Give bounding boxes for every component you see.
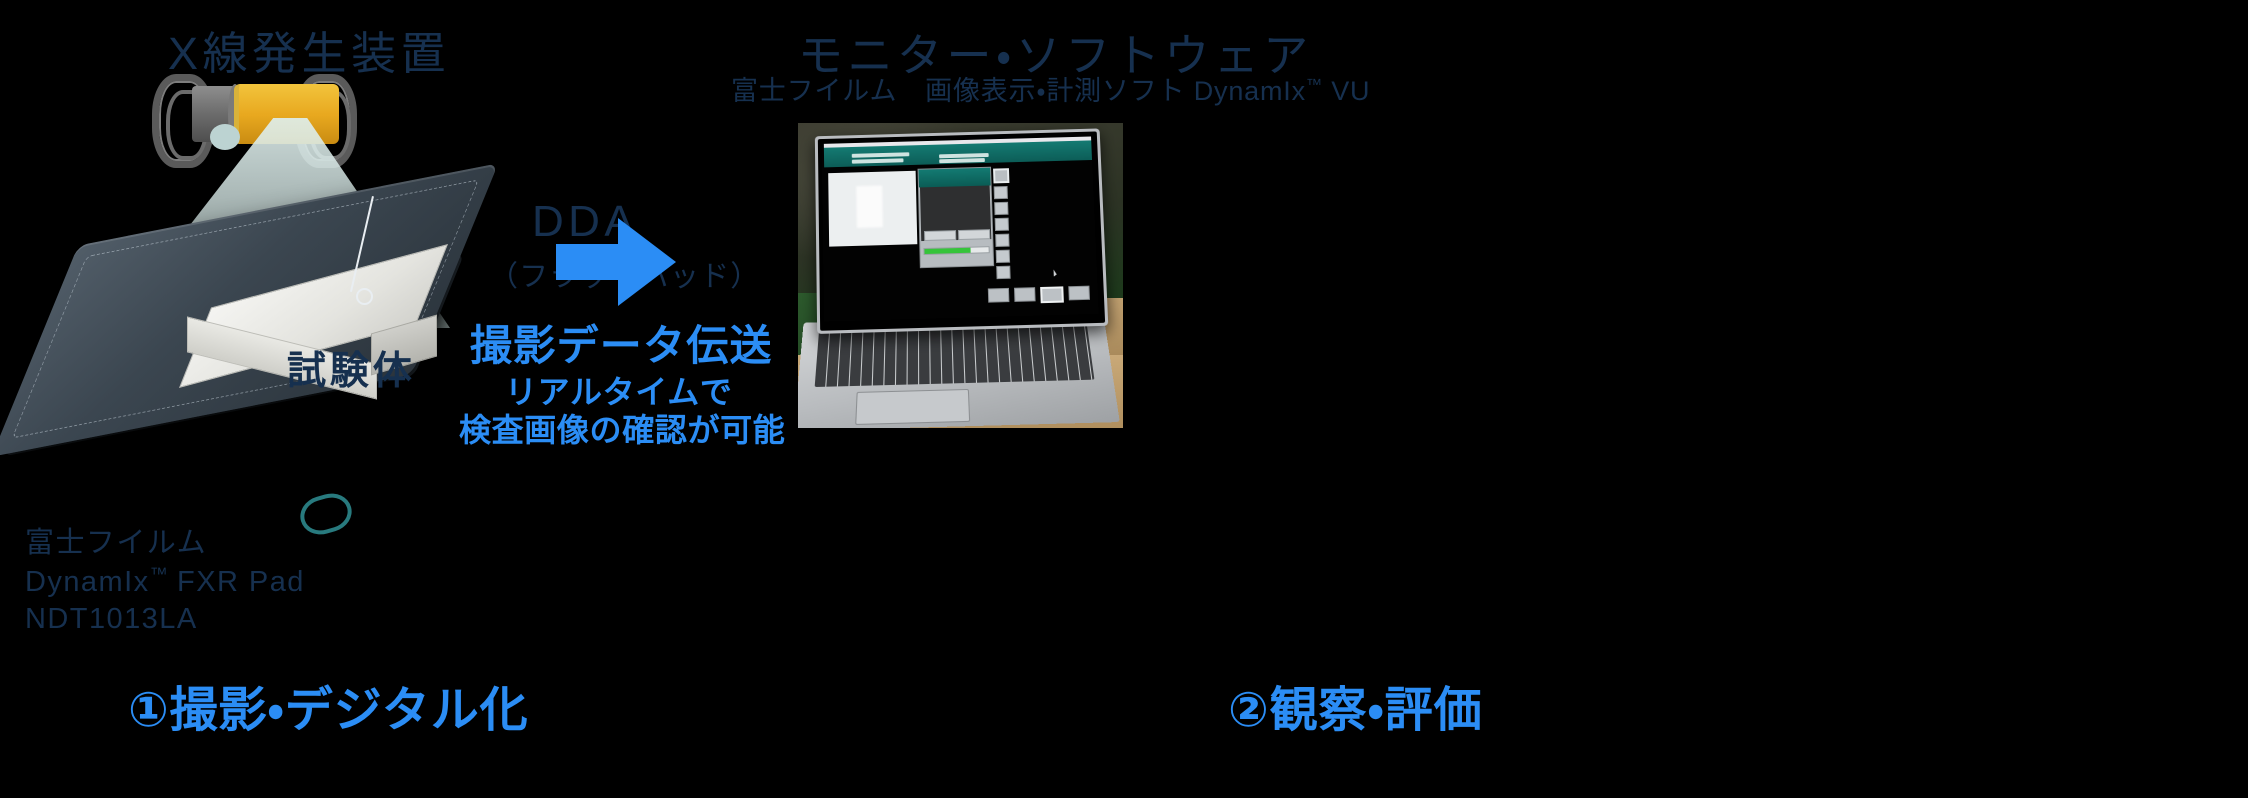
monitor-subtitle-prefix: 富士フイルム 画像表示・計測ソフト DynamIx — [731, 76, 1306, 106]
right-arrow-icon — [556, 218, 676, 306]
tool-button-4[interactable] — [995, 218, 1009, 231]
dialog-up-button[interactable] — [924, 230, 956, 241]
laptop-keyboard — [815, 325, 1095, 387]
tool-palette — [993, 168, 1009, 282]
screen-bottom-buttons — [988, 286, 1090, 305]
product-model-prefix: DynamIx — [25, 565, 150, 597]
toolbar-field-4 — [939, 158, 985, 163]
monitor-subtitle-trademark-icon: ™ — [1306, 76, 1323, 94]
tool-button-3[interactable] — [994, 202, 1008, 215]
transfer-detail-line-2: 検査画像の確認が可能 — [459, 405, 785, 451]
xray-tube-illustration — [150, 72, 345, 158]
step-1-caption: ①撮影・デジタル化 — [128, 670, 529, 740]
bottom-button-1[interactable] — [988, 288, 1010, 303]
xray-preview-specimen — [856, 186, 883, 228]
diagram-canvas: X線発生装置 試験体 — [0, 0, 2248, 798]
tool-button-5[interactable] — [995, 234, 1009, 247]
bottom-button-3[interactable] — [1040, 286, 1064, 303]
laptop-trackpad — [855, 389, 970, 425]
monitor-subtitle: 富士フイルム 画像表示・計測ソフト DynamIx™ VU — [731, 69, 1370, 108]
product-model: DynamIx™ FXR Pad — [25, 563, 305, 601]
dialog-down-button[interactable] — [958, 229, 990, 240]
transfer-title: 撮影データ伝送 — [470, 312, 773, 373]
laptop-photo — [798, 123, 1123, 428]
capture-progress-bar — [923, 246, 989, 255]
tool-button-1[interactable] — [993, 168, 1009, 183]
bottom-button-2[interactable] — [1014, 287, 1036, 302]
capture-dialog-header — [919, 168, 991, 188]
laptop-lid — [815, 128, 1108, 333]
bottom-button-4[interactable] — [1068, 286, 1090, 301]
tool-button-7[interactable] — [996, 266, 1010, 279]
product-model-trademark-icon: ™ — [150, 564, 168, 584]
product-part-number: NDT1013LA — [25, 601, 305, 639]
toolbar-field-1 — [852, 152, 910, 158]
product-brand: 富士フイルム — [25, 525, 305, 563]
toolbar-field-2 — [852, 158, 904, 163]
tube-barrel — [234, 84, 339, 144]
xray-preview-pane — [828, 171, 917, 247]
monitor-subtitle-suffix: VU — [1323, 76, 1370, 106]
specimen-label: 試験体 — [287, 340, 416, 396]
tool-button-2[interactable] — [994, 186, 1008, 199]
tool-button-6[interactable] — [996, 250, 1010, 263]
product-info-block: 富士フイルム DynamIx™ FXR Pad NDT1013LA — [25, 525, 305, 639]
laptop-screen — [822, 136, 1099, 321]
step-2-caption: ②観察・評価 — [1228, 670, 1483, 740]
laptop-bezel — [818, 131, 1105, 330]
capture-dialog — [918, 167, 995, 268]
dda-callout-endpoint — [356, 288, 373, 305]
mouse-cursor-icon — [1054, 269, 1057, 276]
tube-aperture-icon — [210, 124, 240, 150]
product-model-suffix: FXR Pad — [168, 565, 305, 597]
